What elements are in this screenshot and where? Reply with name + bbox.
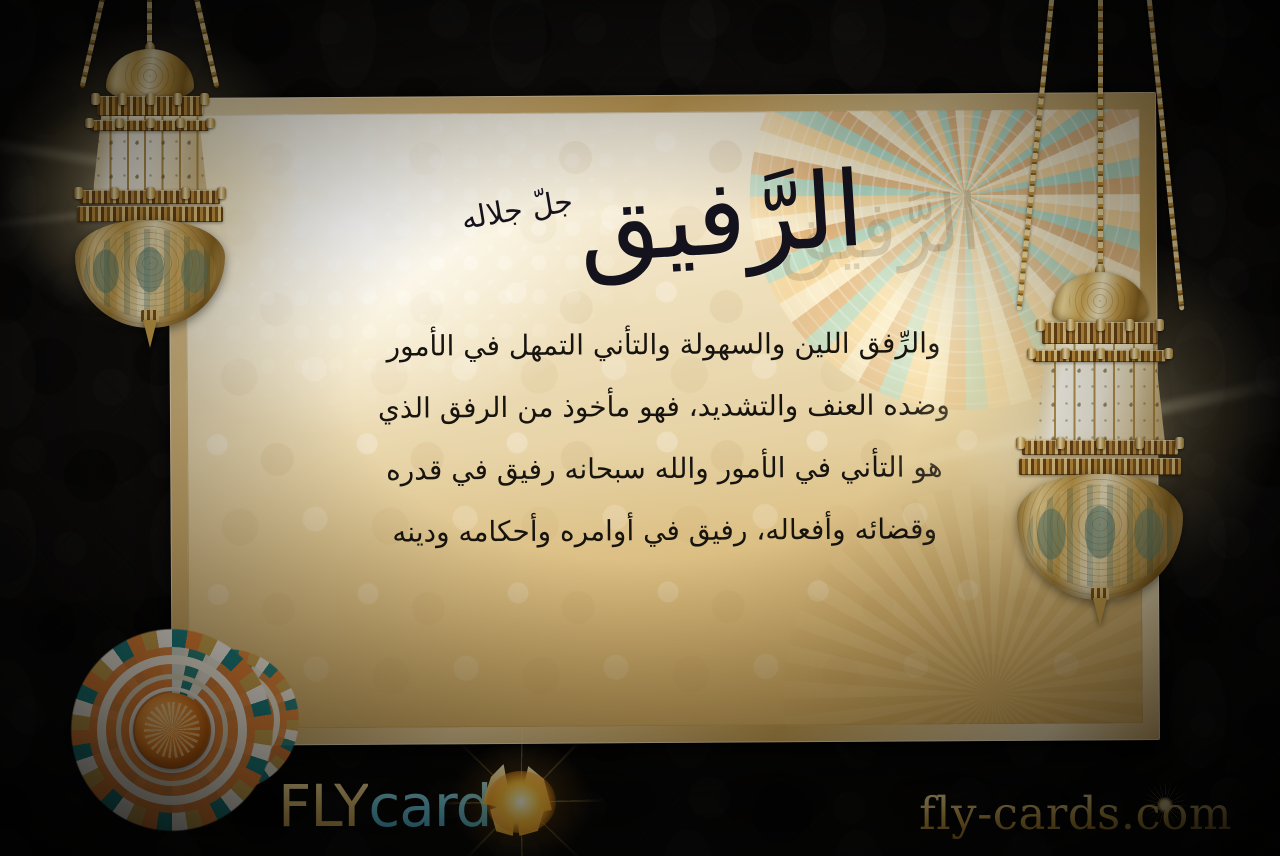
- background-vignette: [0, 0, 1280, 856]
- greeting-card-canvas: الرَّفيق الرَّفيق جلّ جلاله والرِّفق الل…: [0, 0, 1280, 856]
